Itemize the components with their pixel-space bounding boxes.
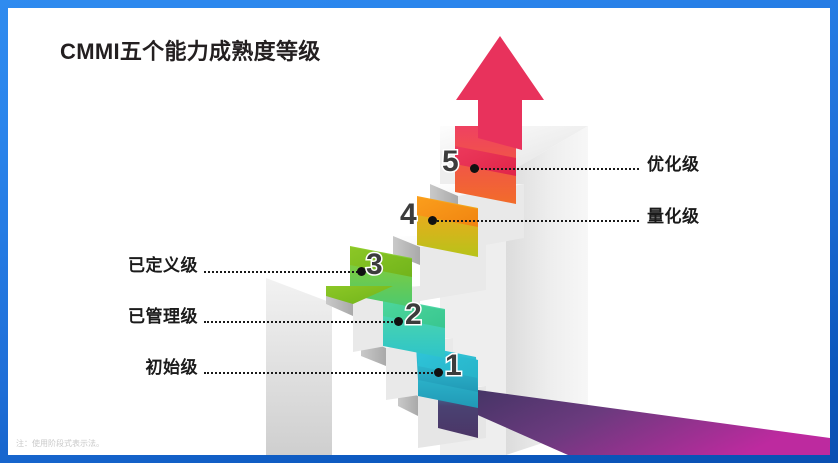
- level-label-2: 已管理级: [28, 302, 198, 327]
- leader-line-level-5: [474, 168, 639, 170]
- step-number-4: 4: [400, 198, 417, 232]
- step-number-5: 5: [442, 145, 459, 179]
- step-number-1: 1: [445, 349, 462, 383]
- cmmi-staircase-diagram: 1 2 3 4 5 已定义级 已管理级 初始级 优化级 量化级: [8, 8, 830, 455]
- leader-line-level-1: [204, 372, 440, 374]
- step-number-3: 3: [366, 248, 383, 282]
- level-label-1: 初始级: [28, 353, 198, 378]
- slide-frame: CMMI五个能力成熟度等级: [0, 0, 838, 463]
- connector-dot-level-5: [470, 164, 479, 173]
- connector-dot-level-1: [434, 368, 443, 377]
- slide-canvas: CMMI五个能力成熟度等级: [8, 8, 830, 455]
- leader-line-level-4: [432, 220, 639, 222]
- level-label-3: 已定义级: [28, 251, 198, 276]
- footnote-text: 注：使用阶段式表示法。: [16, 438, 104, 449]
- leader-line-level-2: [204, 321, 400, 323]
- step-number-2: 2: [405, 298, 422, 332]
- leader-line-level-3: [204, 271, 362, 273]
- level-label-5: 优化级: [647, 150, 700, 175]
- connector-dot-level-2: [394, 317, 403, 326]
- connector-dot-level-3: [357, 267, 366, 276]
- level-label-4: 量化级: [647, 202, 700, 227]
- staircase-artwork: [8, 8, 830, 455]
- connector-dot-level-4: [428, 216, 437, 225]
